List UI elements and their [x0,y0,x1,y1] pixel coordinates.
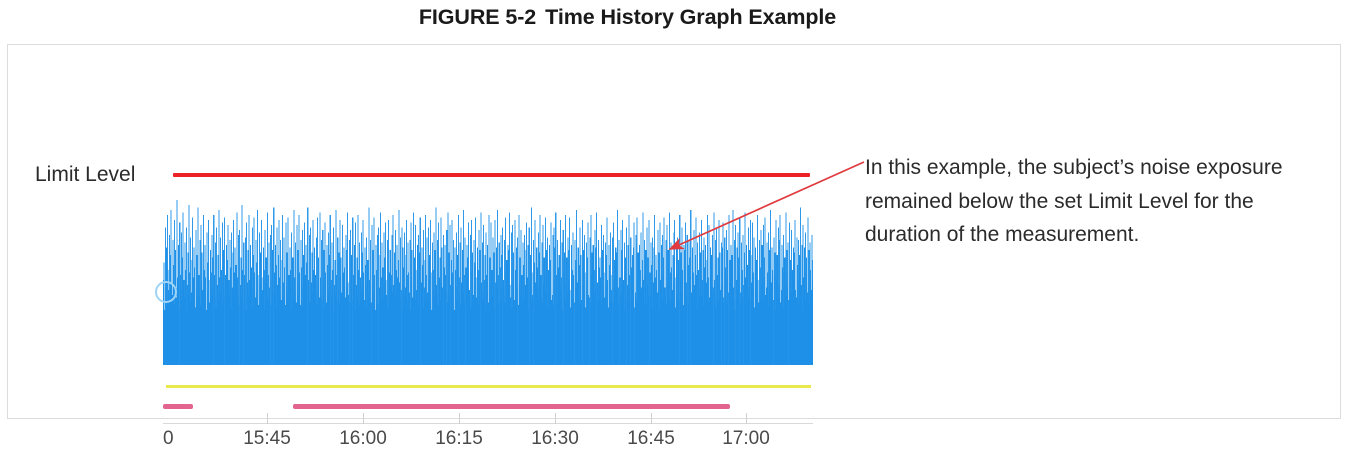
data-point-marker-icon [155,281,177,303]
limit-level-label: Limit Level [35,161,135,188]
x-axis-label: 16:15 [435,427,483,451]
x-axis-label: 17:00 [722,427,770,451]
run-marker-segment [293,404,730,409]
x-axis-label: 15:45 [243,427,291,451]
x-axis-tick [459,413,460,424]
x-axis-label: 0 [163,427,174,451]
x-axis-label: 16:00 [339,427,387,451]
x-axis-label: 16:30 [531,427,579,451]
x-axis-tick [267,413,268,424]
figure-title: Time History Graph Example [545,5,836,29]
run-marker-segment [163,404,193,409]
figure-caption: FIGURE 5-2Time History Graph Example [0,2,1255,32]
x-axis-tick [651,413,652,424]
x-axis-label: 16:45 [627,427,675,451]
x-axis-tick [555,413,556,424]
x-axis-line [163,423,813,424]
figure-number: FIGURE 5-2 [419,5,536,29]
figure-panel: Limit Level 015:4516:0016:1516:3016:4517… [7,44,1341,419]
x-axis-tick [363,413,364,424]
annotation-arrow-icon [648,150,873,265]
secondary-yellow-trace [166,385,811,388]
x-axis-tick [746,413,747,424]
annotation-text: In this example, the subject’s noise exp… [865,151,1335,252]
